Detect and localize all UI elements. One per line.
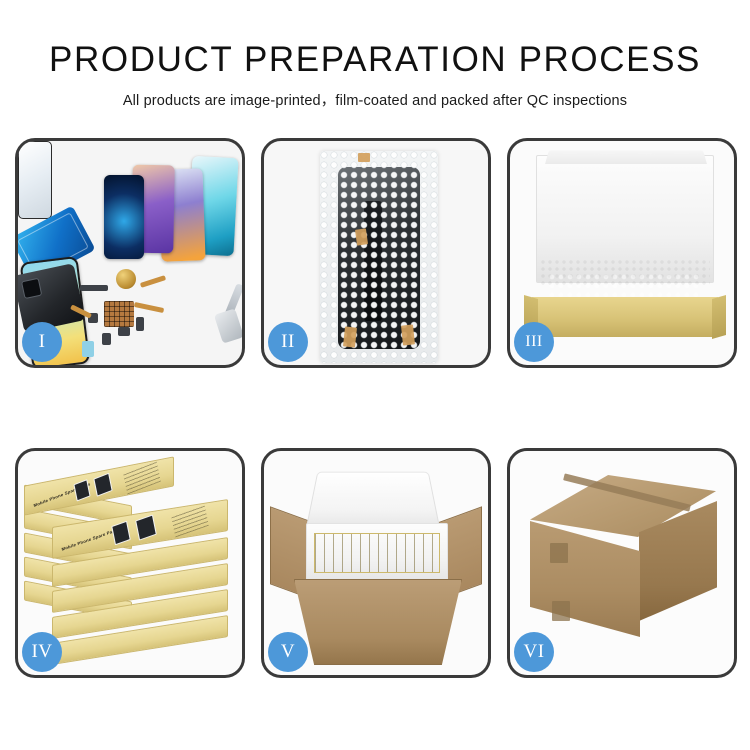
part-battery-icon bbox=[82, 341, 94, 357]
yellow-box-base-icon bbox=[532, 297, 718, 337]
carton-body-icon bbox=[294, 579, 462, 665]
step-badge-6: VI bbox=[514, 632, 554, 672]
repair-tool-icon bbox=[214, 308, 244, 343]
bubble-wrap-bag-icon bbox=[320, 151, 438, 363]
step-badge-4: IV bbox=[22, 632, 62, 672]
foam-lid-icon bbox=[305, 472, 440, 530]
part-connector-icon bbox=[136, 317, 144, 331]
tape-middle-icon bbox=[355, 228, 368, 245]
process-step-grid: I II III bbox=[15, 138, 737, 683]
part-block-icon bbox=[102, 333, 111, 345]
tape-bottom-right-icon bbox=[401, 324, 415, 345]
tape-bottom-left-icon bbox=[343, 326, 357, 347]
flex-cable-secondary-icon bbox=[134, 302, 164, 313]
box-spec-lines-icon bbox=[123, 461, 161, 495]
box-spec-lines-front-icon bbox=[171, 505, 209, 538]
chip-array-icon bbox=[104, 301, 134, 327]
step-panel-3: III bbox=[507, 138, 737, 368]
carton-tab-lower-icon bbox=[552, 601, 570, 621]
step-panel-6: VI bbox=[507, 448, 737, 678]
yellow-boxes-batch-icon bbox=[314, 533, 440, 573]
step-panel-1: I bbox=[15, 138, 245, 368]
speaker-component-icon bbox=[116, 269, 136, 289]
box-label-front: Mobile Phone Spare Parts bbox=[61, 527, 119, 552]
part-strip-icon bbox=[80, 285, 108, 291]
step-badge-2: II bbox=[268, 322, 308, 362]
step-panel-2: II bbox=[261, 138, 491, 368]
box-window-left-icon bbox=[73, 479, 90, 501]
step-panel-5: V bbox=[261, 448, 491, 678]
flex-cable-icon bbox=[140, 275, 166, 288]
carton-front-face-icon bbox=[530, 521, 640, 637]
step-badge-5: V bbox=[268, 632, 308, 672]
tape-top-icon bbox=[358, 153, 370, 162]
header: PRODUCT PREPARATION PROCESS All products… bbox=[0, 0, 750, 110]
screen-assembly-icon bbox=[338, 167, 420, 349]
step-badge-3: III bbox=[514, 322, 554, 362]
glass-screen-protector-icon bbox=[18, 141, 52, 219]
step-panel-4: Mobile Phone Spare Parts Mobile Phone Sp… bbox=[15, 448, 245, 678]
box-window-front-right-icon bbox=[135, 514, 157, 540]
box-window-front-left-icon bbox=[111, 521, 131, 546]
box-window-right-icon bbox=[93, 473, 112, 497]
product-preparation-infographic: PRODUCT PREPARATION PROCESS All products… bbox=[0, 0, 750, 750]
part-chip-icon bbox=[118, 327, 130, 336]
carton-tab-upper-icon bbox=[550, 543, 568, 563]
page-title: PRODUCT PREPARATION PROCESS bbox=[0, 42, 750, 79]
phone-dark-blue-icon bbox=[104, 175, 144, 259]
page-subtitle: All products are image-printed，film-coat… bbox=[0, 89, 750, 110]
step-badge-1: I bbox=[22, 322, 62, 362]
